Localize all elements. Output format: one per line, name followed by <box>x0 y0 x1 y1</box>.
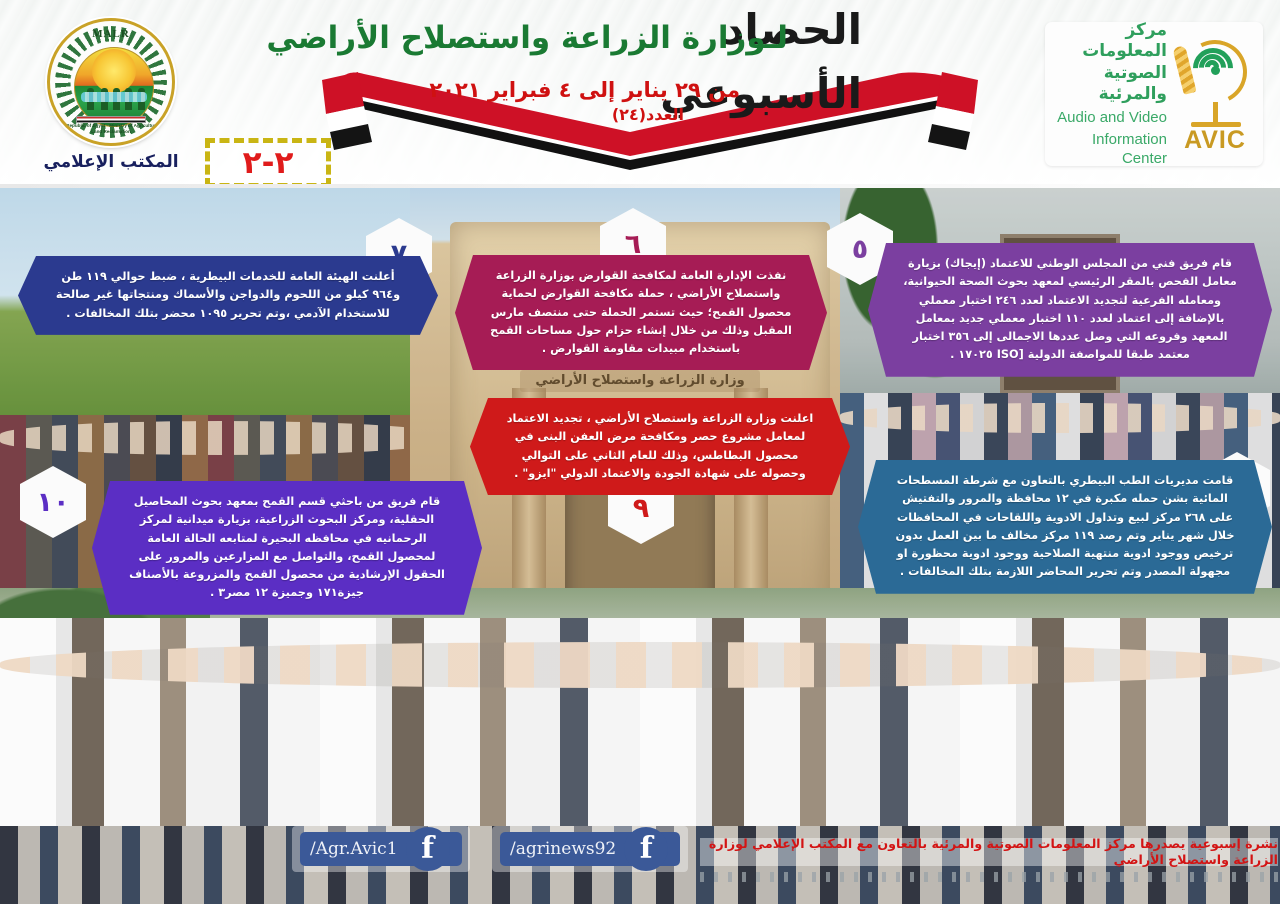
page-number-text: ٢-٢ <box>243 148 294 179</box>
avic-text-block: مركز المعلومات الصوتية والمرئية Audio an… <box>1053 20 1169 168</box>
stand-stem <box>1213 102 1218 124</box>
avic-name-en-1: Audio and Video <box>1053 109 1167 127</box>
callout-box-6: نفذت الإدارة العامة لمكافحة القوارض بوزا… <box>455 255 827 370</box>
callout-box-7: أعلنت الهيئة العامة للخدمات البيطرية ، ض… <box>18 256 438 335</box>
footer-note-text: نشرة إسبوعية يصدرها مركز المعلومات الصوت… <box>700 838 1278 866</box>
facebook-handle: /agrinews92 <box>500 841 630 858</box>
egypt-flag-stripe <box>76 116 146 123</box>
header-banner: MALR Arab Republic of Egypt · Ministry o… <box>0 0 1280 188</box>
avic-name-ar-1: مركز المعلومات <box>1053 20 1167 63</box>
callout-box-5: قام فريق فني من المجلس الوطني للاعتماد (… <box>868 243 1272 377</box>
title-ministry: لـوزارة الزراعة واستصلاح الأراضي <box>266 22 788 55</box>
issue-number: العدد(٢٤) <box>612 105 684 124</box>
avic-name-en-2: Information Center <box>1053 131 1167 168</box>
newsletter-page: MALR Arab Republic of Egypt · Ministry o… <box>0 0 1280 904</box>
media-office-label: المكتب الإعلامي <box>35 152 187 172</box>
facebook-handle: /Agr.Avic1 <box>300 841 412 858</box>
facebook-badge-agrinews[interactable]: f /agrinews92 <box>492 826 688 872</box>
sun-icon <box>92 49 136 93</box>
avic-logo: AVIC مركز المعلومات الصوتية والمرئية Aud… <box>1045 22 1263 166</box>
footer-dotted-divider <box>700 872 1278 882</box>
seal-ring-text: Arab Republic of Egypt · Ministry of Agr… <box>50 123 172 134</box>
facebook-icon: f <box>406 827 450 871</box>
date-range: من ٢٩ يناير إلى ٤ فبراير ٢٠٢١ <box>429 78 740 103</box>
malr-seal-logo: MALR Arab Republic of Egypt · Ministry o… <box>47 18 175 146</box>
signal-dot-icon <box>1211 66 1220 75</box>
facebook-badge-avic[interactable]: f /Agr.Avic1 <box>292 826 470 872</box>
avic-name-ar-2: الصوتية والمرئية <box>1053 63 1167 106</box>
facebook-pill[interactable]: f /agrinews92 <box>500 832 680 866</box>
seal-acronym: MALR <box>50 29 172 40</box>
avic-acronym: AVIC <box>1175 128 1255 153</box>
water-icon <box>81 92 147 102</box>
page-number-badge: ٢-٢ <box>205 138 331 188</box>
facebook-pill[interactable]: f /Agr.Avic1 <box>300 832 462 866</box>
seal-emblem <box>74 47 154 127</box>
callout-box-10: قام فريق من باحثي قسم القمح بمعهد بحوث ا… <box>92 481 482 615</box>
callout-box-9: اعلنت وزارة الزراعة واستصلاح الأراضي ، ت… <box>470 398 850 495</box>
avic-broadcast-icon: AVIC <box>1175 32 1255 156</box>
facebook-icon: f <box>624 827 668 871</box>
callout-box-8: قامت مديريات الطب البيطري بالتعاون مع شر… <box>858 460 1272 594</box>
